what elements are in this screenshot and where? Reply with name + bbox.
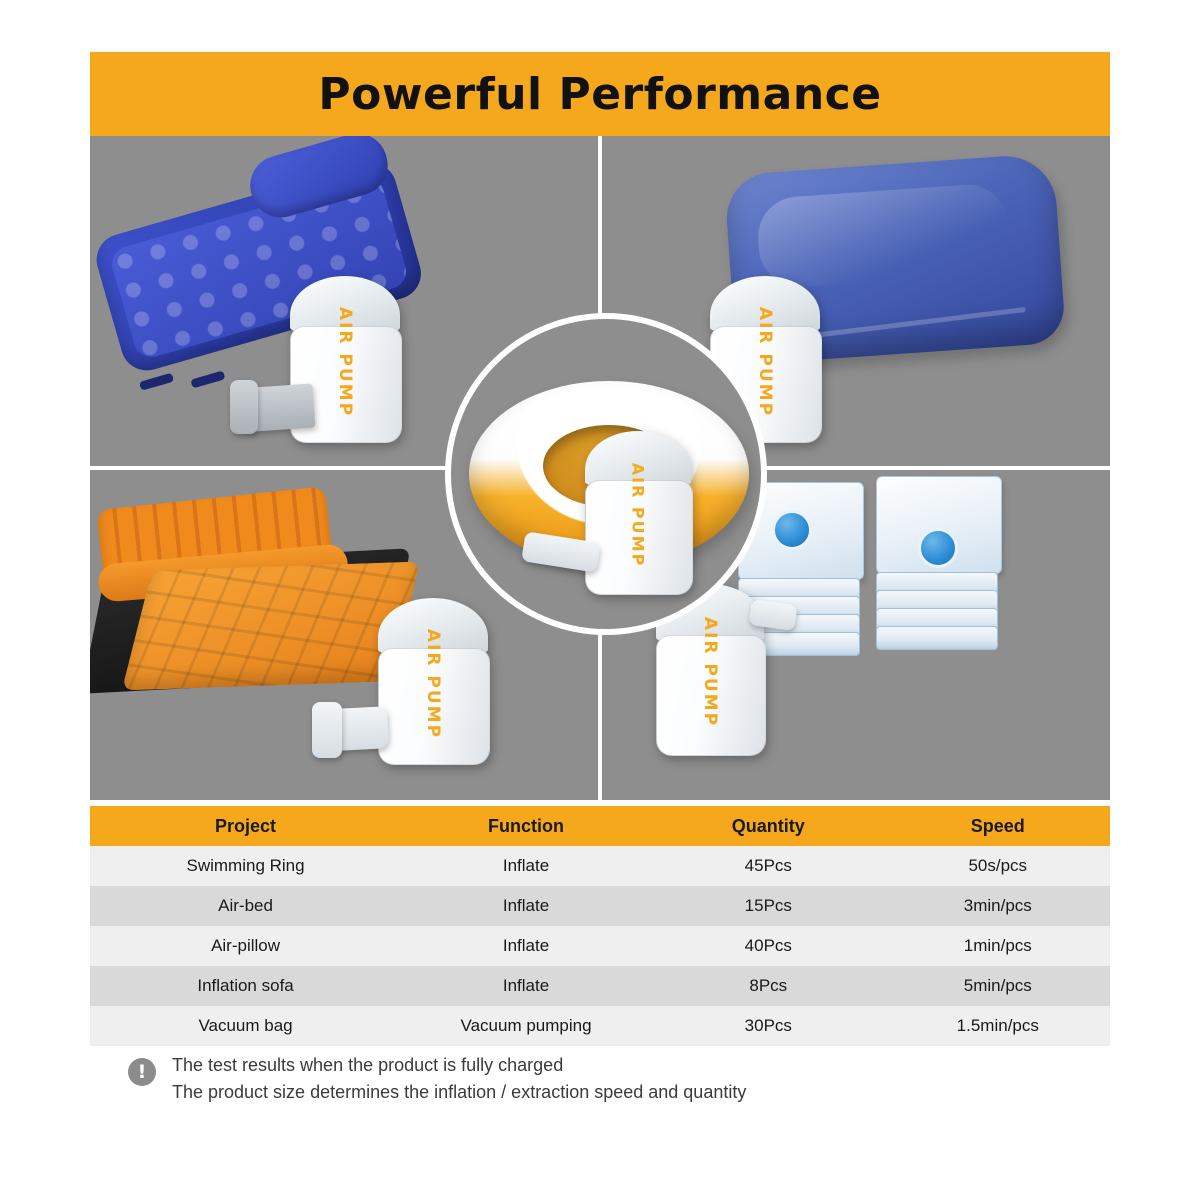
air-pump-label: AIR PUMP: [700, 617, 720, 727]
cell-speed: 1.5min/pcs: [886, 1016, 1110, 1036]
cell-quantity: 45Pcs: [651, 856, 886, 876]
swimming-ring-panel: AIR PUMP: [445, 313, 767, 635]
cell-project: Inflation sofa: [90, 976, 401, 996]
page-title: Powerful Performance: [318, 69, 881, 120]
header-banner: Powerful Performance: [90, 52, 1110, 136]
table-row: Inflation sofa Inflate 8Pcs 5min/pcs: [90, 966, 1110, 1006]
cell-function: Inflate: [401, 976, 651, 996]
cell-project: Vacuum bag: [90, 1016, 401, 1036]
air-pump-label: AIR PUMP: [423, 629, 443, 739]
table-row: Vacuum bag Vacuum pumping 30Pcs 1.5min/p…: [90, 1006, 1110, 1046]
table-header-function: Function: [401, 816, 651, 837]
table-row: Air-pillow Inflate 40Pcs 1min/pcs: [90, 926, 1110, 966]
cell-speed: 5min/pcs: [886, 976, 1110, 996]
air-pump-label: AIR PUMP: [629, 463, 648, 568]
air-pump-nozzle-tip: [230, 380, 258, 434]
cell-function: Inflate: [401, 896, 651, 916]
cell-quantity: 40Pcs: [651, 936, 886, 956]
cell-function: Vacuum pumping: [401, 1016, 651, 1036]
table-header-speed: Speed: [886, 816, 1110, 837]
cell-quantity: 8Pcs: [651, 976, 886, 996]
product-image-collage: AIR PUMP AIR PUMP: [90, 136, 1110, 800]
vacuum-valve-icon: [918, 528, 958, 568]
cell-project: Air-bed: [90, 896, 401, 916]
air-pump-device: AIR PUMP: [585, 431, 691, 593]
air-pump-device: AIR PUMP: [378, 598, 488, 763]
product-infographic-page: Powerful Performance AIR PUMP: [0, 0, 1200, 1200]
air-pump-nozzle-tip: [312, 702, 342, 758]
cell-quantity: 15Pcs: [651, 896, 886, 916]
table-header-quantity: Quantity: [651, 816, 886, 837]
air-pump-label: AIR PUMP: [755, 307, 775, 417]
air-pump-label: AIR PUMP: [335, 307, 355, 417]
table-row: Swimming Ring Inflate 45Pcs 50s/pcs: [90, 846, 1110, 886]
cell-project: Swimming Ring: [90, 856, 401, 876]
cell-speed: 3min/pcs: [886, 896, 1110, 916]
table-row: Air-bed Inflate 15Pcs 3min/pcs: [90, 886, 1110, 926]
cell-project: Air-pillow: [90, 936, 401, 956]
vacuum-valve-icon: [772, 510, 812, 550]
cell-function: Inflate: [401, 856, 651, 876]
footnote: ! The test results when the product is f…: [128, 1052, 1128, 1106]
footnote-line-2: The product size determines the inflatio…: [172, 1079, 746, 1106]
cell-speed: 50s/pcs: [886, 856, 1110, 876]
cell-speed: 1min/pcs: [886, 936, 1110, 956]
cell-quantity: 30Pcs: [651, 1016, 886, 1036]
exclamation-icon: !: [128, 1058, 156, 1086]
cell-function: Inflate: [401, 936, 651, 956]
footnote-line-1: The test results when the product is ful…: [172, 1052, 746, 1079]
table-header-row: Project Function Quantity Speed: [90, 806, 1110, 846]
footnote-text: The test results when the product is ful…: [172, 1052, 746, 1106]
specification-table: Project Function Quantity Speed Swimming…: [90, 806, 1110, 1046]
table-header-project: Project: [90, 816, 401, 837]
